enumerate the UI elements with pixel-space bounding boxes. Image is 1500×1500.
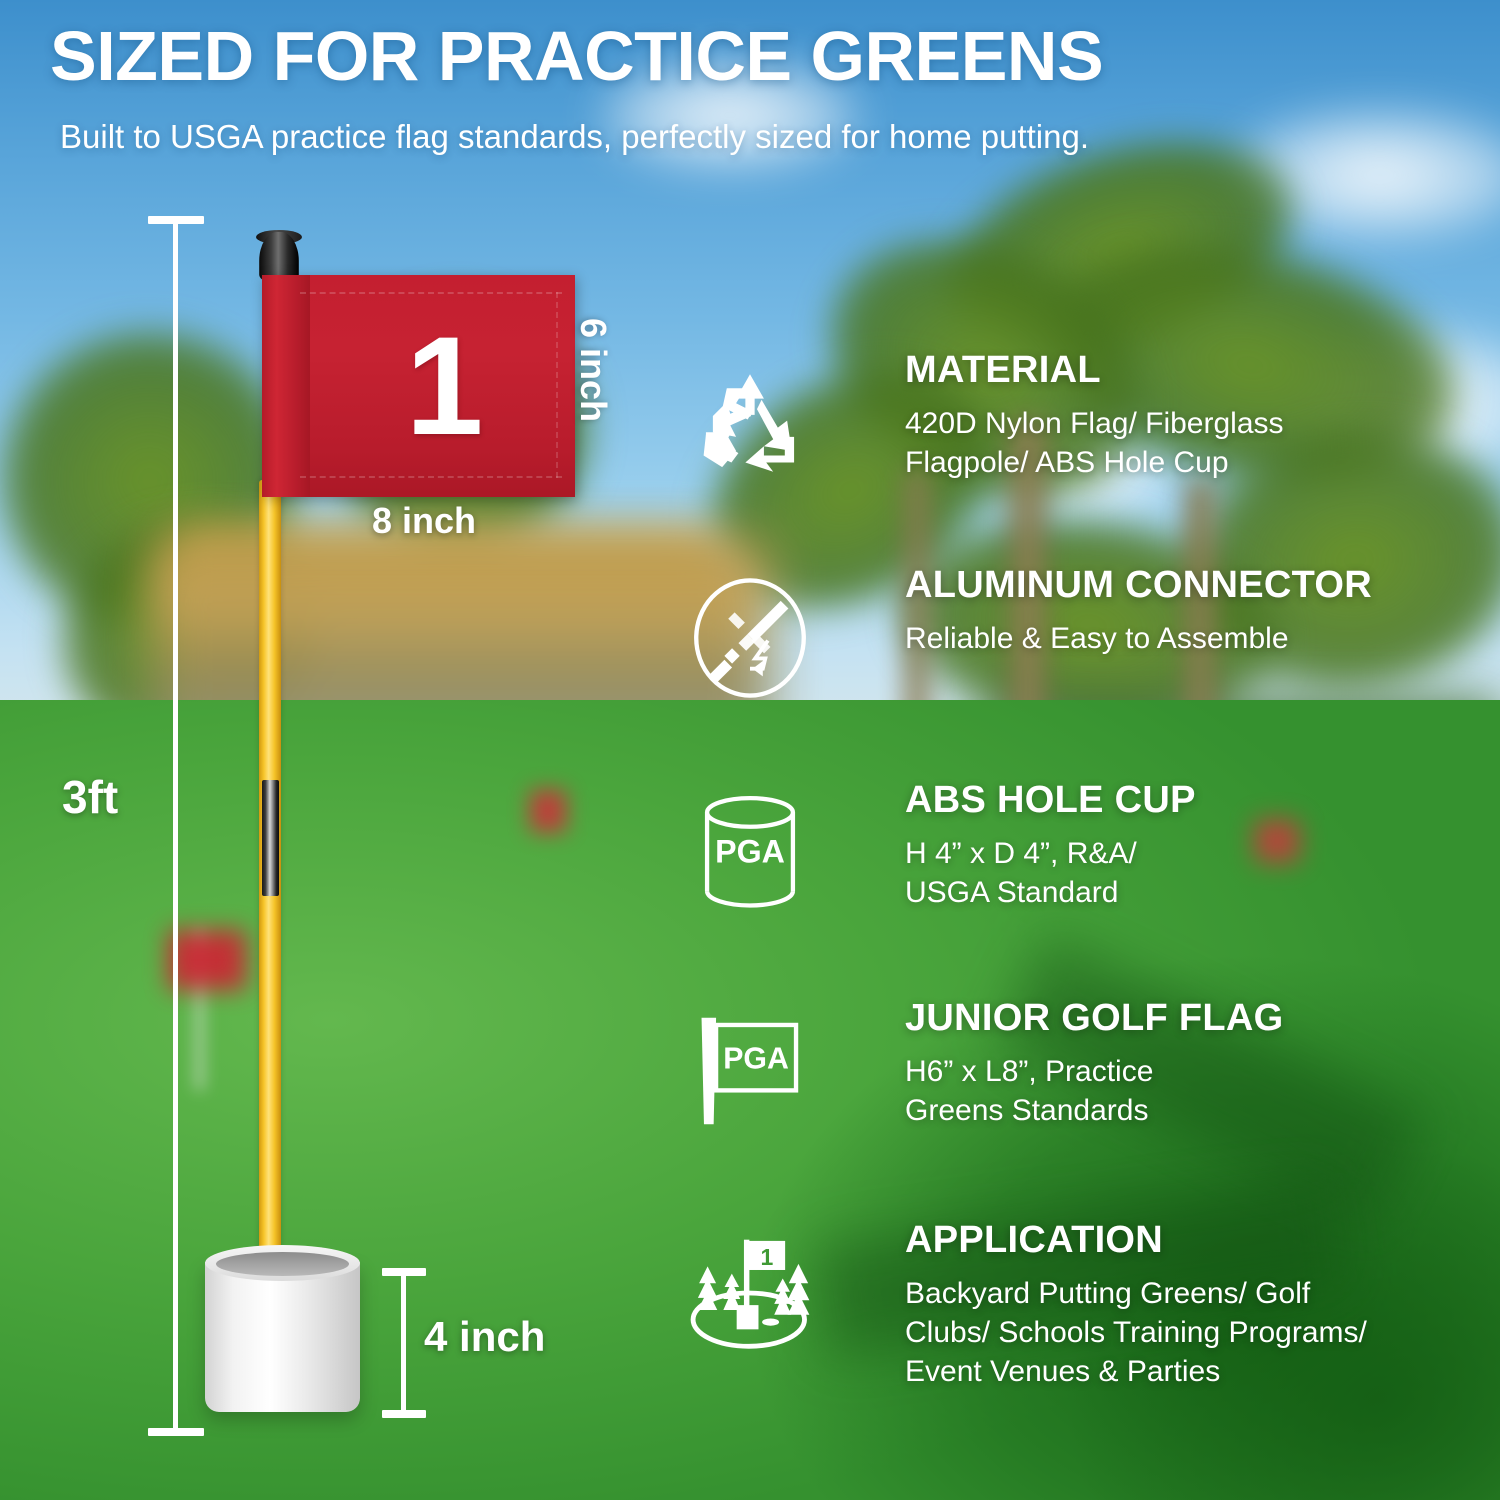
- dim-cap-cup-bottom: [382, 1410, 426, 1418]
- feature-desc-line: H 4” x D 4”, R&A/: [905, 834, 1500, 873]
- feature-title: MATERIAL: [905, 350, 1500, 392]
- feature-desc: H6” x L8”, Practice Greens Standards: [905, 1052, 1500, 1130]
- feature-text: MATERIAL 420D Nylon Flag/ Fiberglass Fla…: [905, 350, 1500, 482]
- dim-label-cup-height: 4 inch: [424, 1313, 545, 1361]
- golf-course-icon: 1: [680, 1228, 820, 1358]
- aluminum-connector-icon: [680, 573, 820, 703]
- hole-cup-icon-label: PGA: [715, 834, 785, 870]
- feature-desc-line: Reliable & Easy to Assemble: [905, 619, 1500, 658]
- product-image: 1: [0, 0, 700, 1500]
- page-title: SIZED FOR PRACTICE GREENS: [50, 20, 1470, 94]
- feature-material: MATERIAL 420D Nylon Flag/ Fiberglass Fla…: [660, 350, 1500, 550]
- recycle-icon: [680, 358, 820, 488]
- feature-desc-line: Event Venues & Parties: [905, 1352, 1500, 1391]
- dim-line-cup: [401, 1268, 406, 1416]
- page-subtitle: Built to USGA practice flag standards, p…: [60, 118, 1460, 156]
- hole-cup-inner: [216, 1252, 349, 1276]
- dim-line-pole: [173, 216, 178, 1436]
- feature-title: ABS HOLE CUP: [905, 780, 1500, 822]
- ferrule-cap: [259, 232, 299, 280]
- feature-text: ALUMINUM CONNECTOR Reliable & Easy to As…: [905, 565, 1500, 658]
- feature-application: 1 APPLICATION Backyard Putting Greens/ G…: [660, 1220, 1500, 1420]
- feature-desc: Reliable & Easy to Assemble: [905, 619, 1500, 658]
- golf-course-icon-label: 1: [761, 1244, 774, 1270]
- feature-aluminum-connector: ALUMINUM CONNECTOR Reliable & Easy to As…: [660, 565, 1500, 765]
- feature-title: ALUMINUM CONNECTOR: [905, 565, 1500, 607]
- dim-label-flag-height: 6 inch: [572, 318, 614, 422]
- dim-label-flag-width: 8 inch: [372, 500, 476, 542]
- feature-text: JUNIOR GOLF FLAG H6” x L8”, Practice Gre…: [905, 998, 1500, 1130]
- feature-title: JUNIOR GOLF FLAG: [905, 998, 1500, 1040]
- feature-title: APPLICATION: [905, 1220, 1500, 1262]
- feature-desc-line: Clubs/ Schools Training Programs/: [905, 1313, 1500, 1352]
- flag-number: 1: [262, 275, 575, 497]
- feature-desc-line: Greens Standards: [905, 1091, 1500, 1130]
- feature-junior-golf-flag: PGA JUNIOR GOLF FLAG H6” x L8”, Practice…: [660, 998, 1500, 1198]
- feature-desc: Backyard Putting Greens/ Golf Clubs/ Sch…: [905, 1274, 1500, 1391]
- hole-cup-icon: PGA: [680, 788, 820, 918]
- feature-text: APPLICATION Backyard Putting Greens/ Gol…: [905, 1220, 1500, 1391]
- product-infographic: SIZED FOR PRACTICE GREENS Built to USGA …: [0, 0, 1500, 1500]
- golf-flag-icon: PGA: [680, 1006, 820, 1136]
- feature-desc-line: H6” x L8”, Practice: [905, 1052, 1500, 1091]
- feature-desc-line: USGA Standard: [905, 873, 1500, 912]
- feature-desc: H 4” x D 4”, R&A/ USGA Standard: [905, 834, 1500, 912]
- feature-abs-hole-cup: PGA ABS HOLE CUP H 4” x D 4”, R&A/ USGA …: [660, 780, 1500, 980]
- aluminum-connector: [262, 780, 279, 896]
- dim-cap-bottom: [148, 1428, 204, 1436]
- feature-desc-line: 420D Nylon Flag/ Fiberglass: [905, 404, 1500, 443]
- dim-label-pole-height: 3ft: [62, 770, 118, 824]
- feature-desc-line: Backyard Putting Greens/ Golf: [905, 1274, 1500, 1313]
- feature-text: ABS HOLE CUP H 4” x D 4”, R&A/ USGA Stan…: [905, 780, 1500, 912]
- golf-flag-icon-label: PGA: [723, 1043, 789, 1076]
- feature-desc: 420D Nylon Flag/ Fiberglass Flagpole/ AB…: [905, 404, 1500, 482]
- abs-hole-cup: [205, 1262, 360, 1412]
- feature-desc-line: Flagpole/ ABS Hole Cup: [905, 443, 1500, 482]
